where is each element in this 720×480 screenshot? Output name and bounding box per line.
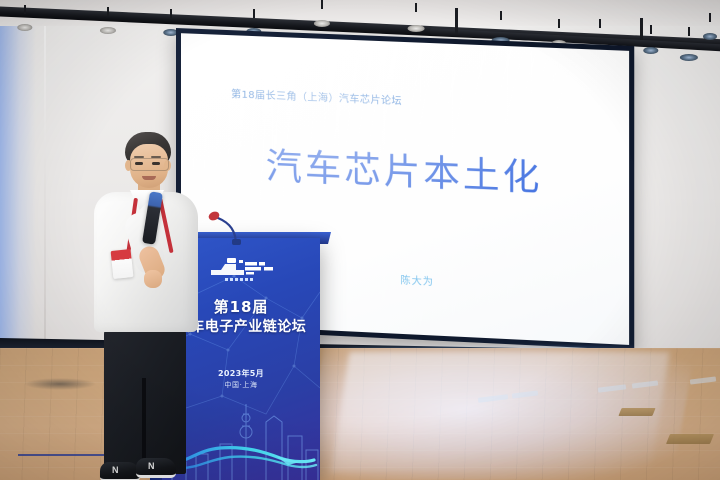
person-hand [144, 270, 162, 288]
person-name-badge [111, 249, 134, 279]
person-eye [135, 162, 143, 165]
person-eye [152, 162, 160, 165]
slide-header-text: 第18届长三角（上海）汽车芯片论坛 [231, 85, 402, 107]
slide-speaker-name: 陈大为 [400, 271, 433, 288]
floor-access-plate [666, 434, 714, 444]
stage-light-icon [700, 20, 720, 38]
speaker-person: N N [78, 128, 210, 480]
shoe-brand-mark: N [112, 465, 119, 475]
stage-light-icon [640, 32, 662, 52]
auto-chip-forum-logo-icon [203, 254, 279, 284]
stage-light-icon [676, 34, 702, 59]
stage-light-icon [404, 10, 428, 30]
slide-main-title: 汽车芯片本土化 [181, 133, 629, 205]
person-eyebrow [134, 156, 144, 158]
person-eyebrow [151, 156, 161, 158]
shoe-brand-mark: N [148, 461, 155, 471]
person-mouth [142, 176, 156, 180]
person-shoe-right: N [136, 458, 176, 478]
conference-stage-photo: 第18届长三角（上海）汽车芯片论坛 汽车芯片本土化 陈大为 [0, 0, 720, 480]
person-shoe-left: N [100, 462, 140, 480]
stage-light-icon [310, 7, 333, 25]
floor-access-plate [618, 408, 655, 416]
stage-light-icon [14, 12, 36, 29]
wall-corner-edge [44, 0, 46, 348]
stage-light-icon [96, 14, 119, 32]
wall-blue-glow [0, 0, 36, 352]
